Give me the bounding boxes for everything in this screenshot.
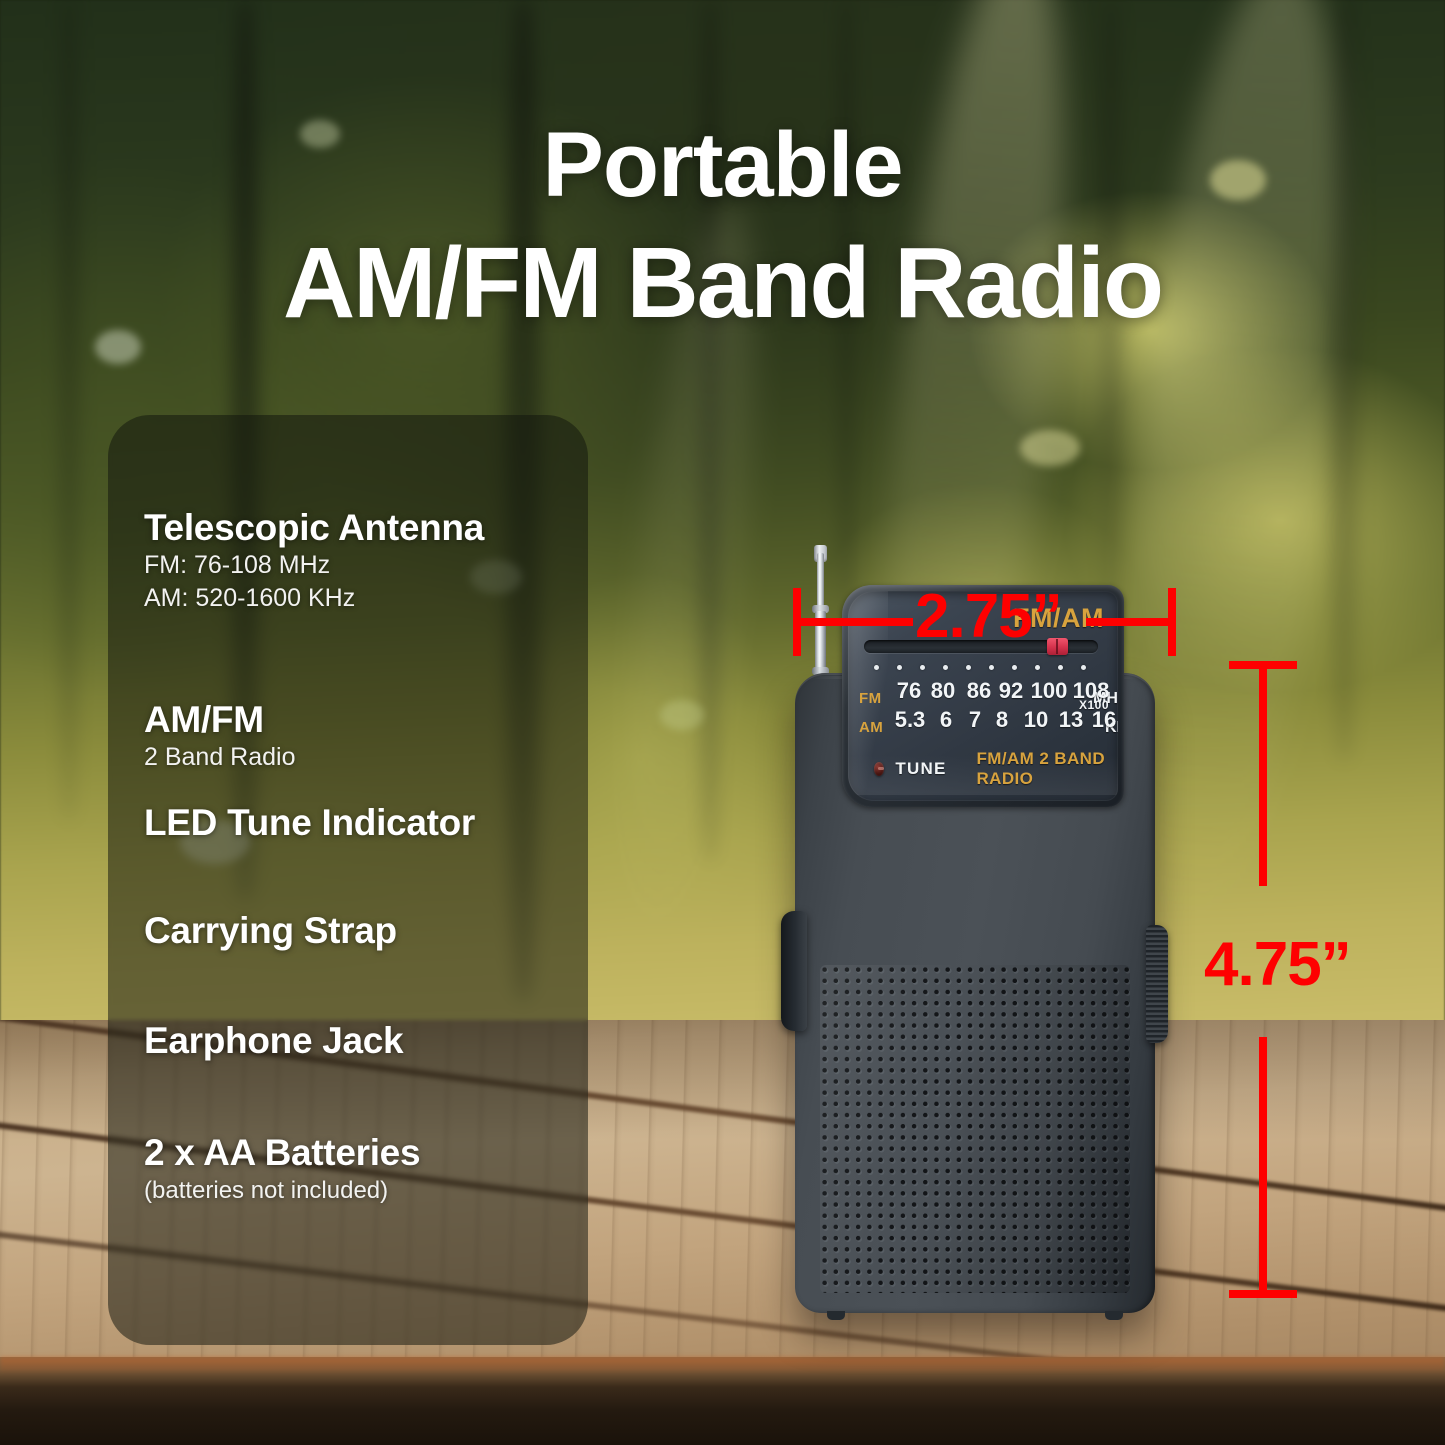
feature-title: 2 x AA Batteries — [144, 1132, 588, 1174]
fm-value: 92 — [999, 679, 1023, 703]
dial-tick-marks — [874, 665, 1100, 671]
foot-right — [1105, 1311, 1123, 1320]
am-value: 6 — [940, 708, 952, 732]
feature-item-earphone-jack: Earphone Jack — [144, 1020, 588, 1062]
fm-scale-values: 76 80 86 92 100 108 — [891, 679, 1069, 703]
am-value: 8 — [996, 708, 1008, 732]
feature-title: AM/FM — [144, 699, 588, 741]
feature-title: Earphone Jack — [144, 1020, 588, 1062]
am-band-label: AM — [859, 719, 891, 736]
led-tune-indicator-icon — [874, 762, 884, 776]
feature-item-am-fm: AM/FM 2 Band Radio — [144, 699, 588, 774]
feature-item-carrying-strap: Carrying Strap — [144, 910, 588, 952]
feature-subtitle-am-range: AM: 520-1600 KHz — [144, 582, 588, 615]
feature-item-aa-batteries: 2 x AA Batteries (batteries not included… — [144, 1132, 588, 1207]
feature-subtitle-2-band: 2 Band Radio — [144, 741, 588, 774]
feature-item-led-tune-indicator: LED Tune Indicator — [144, 802, 588, 844]
am-scale-row: AM 5.3 6 7 8 10 13 16 KHz — [859, 708, 1118, 740]
foot-left — [827, 1311, 845, 1320]
feature-title: Carrying Strap — [144, 910, 588, 952]
tuning-wheel[interactable] — [1146, 925, 1168, 1043]
feature-title: LED Tune Indicator — [144, 802, 588, 844]
feature-title: Telescopic Antenna — [144, 507, 588, 549]
fm-band-label: FM — [859, 690, 891, 707]
speaker-grille — [820, 965, 1130, 1293]
page-title: Portable AM/FM Band Radio — [0, 106, 1445, 342]
am-value: 10 — [1024, 708, 1048, 732]
volume-knob[interactable] — [781, 911, 807, 1031]
feature-item-telescopic-antenna: Telescopic Antenna FM: 76-108 MHz AM: 52… — [144, 507, 588, 615]
dial-brand-bottom-label: FM/AM 2 BAND RADIO — [976, 749, 1118, 789]
am-value: 5.3 — [895, 708, 926, 732]
am-scale-values: 5.3 6 7 8 10 13 16 — [891, 708, 1069, 732]
feature-list-panel: Telescopic Antenna FM: 76-108 MHz AM: 52… — [108, 415, 588, 1345]
feature-subtitle-fm-range: FM: 76-108 MHz — [144, 549, 588, 582]
dial-multiplier-label: X100 — [1079, 698, 1109, 712]
fm-value: 100 — [1031, 679, 1068, 703]
tune-label: TUNE — [895, 759, 946, 779]
fm-value: 80 — [931, 679, 955, 703]
fm-value: 76 — [897, 679, 921, 703]
product-radio: FM/AM FM 76 80 86 92 100 108 — [795, 545, 1175, 1320]
title-line-2: AM/FM Band Radio — [0, 224, 1445, 342]
title-line-1: Portable — [542, 114, 902, 216]
dial-bottom-row: TUNE FM/AM 2 BAND RADIO — [874, 749, 1118, 789]
dial-brand-top-label: FM/AM — [1013, 603, 1104, 634]
am-value: 7 — [969, 708, 981, 732]
tuning-dial-face: FM/AM FM 76 80 86 92 100 108 — [848, 591, 1118, 801]
feature-subtitle-batteries-note: (batteries not included) — [144, 1174, 588, 1207]
tuning-pointer[interactable] — [1047, 638, 1068, 655]
fm-value: 86 — [967, 679, 991, 703]
